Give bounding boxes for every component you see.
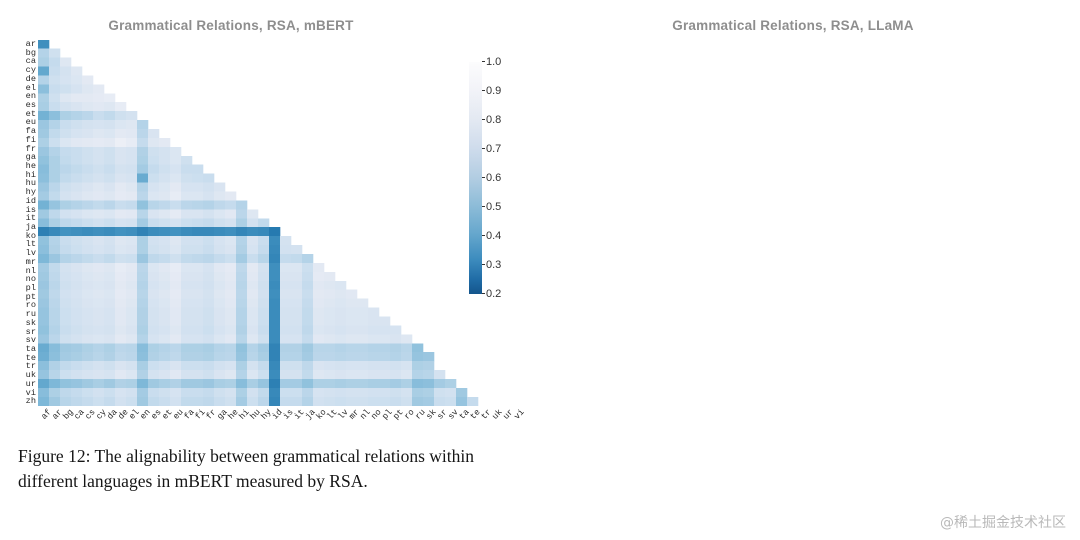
figure-panel-mbert: Grammatical Relations, RSA, mBERT arbgca… [0, 0, 540, 540]
heatmap-mbert: arbgcacydeeleneseteufafifrgahehihuhyidis… [38, 40, 522, 406]
colorbar-tick: 0.6 [482, 173, 501, 184]
colorbar-tick: 0.2 [482, 289, 501, 300]
x-tick-label: vi [512, 408, 525, 421]
tick-mark [482, 264, 485, 265]
chart-title-llama: Grammatical Relations, RSA, LLaMA [568, 18, 1018, 33]
chart-title-mbert: Grammatical Relations, RSA, mBERT [6, 18, 456, 33]
tick-mark [482, 235, 485, 236]
tick-mark [482, 293, 485, 294]
watermark-text: @稀土掘金技术社区 [940, 512, 1066, 532]
tick-mark [482, 90, 485, 91]
colorbar-tick: 0.3 [482, 260, 501, 271]
colorbar-tick: 0.9 [482, 86, 501, 97]
tick-mark [482, 177, 485, 178]
colorbar-tick: 0.7 [482, 144, 501, 155]
tick-mark [482, 148, 485, 149]
figure-panel-llama: Grammatical Relations, RSA, LLaMA cadade… [540, 0, 1080, 540]
colorbar-tick: 0.4 [482, 231, 501, 242]
heatmap-canvas-mbert [38, 40, 522, 406]
tick-mark [482, 61, 485, 62]
figure-page: Grammatical Relations, RSA, mBERT arbgca… [0, 0, 1080, 540]
tick-mark [482, 206, 485, 207]
colorbar-tick: 1.0 [482, 57, 501, 68]
tick-mark [482, 119, 485, 120]
heatmap-y-axis-mbert: arbgcacydeeleneseteufafifrgahehihuhyidis… [18, 40, 36, 406]
colorbar-gradient-mbert [469, 62, 482, 294]
figure-caption-12: Figure 12: The alignability between gram… [18, 444, 518, 494]
colorbar-tick: 0.5 [482, 202, 501, 213]
y-tick-label: zh [26, 397, 36, 406]
colorbar-tick: 0.8 [482, 115, 501, 126]
